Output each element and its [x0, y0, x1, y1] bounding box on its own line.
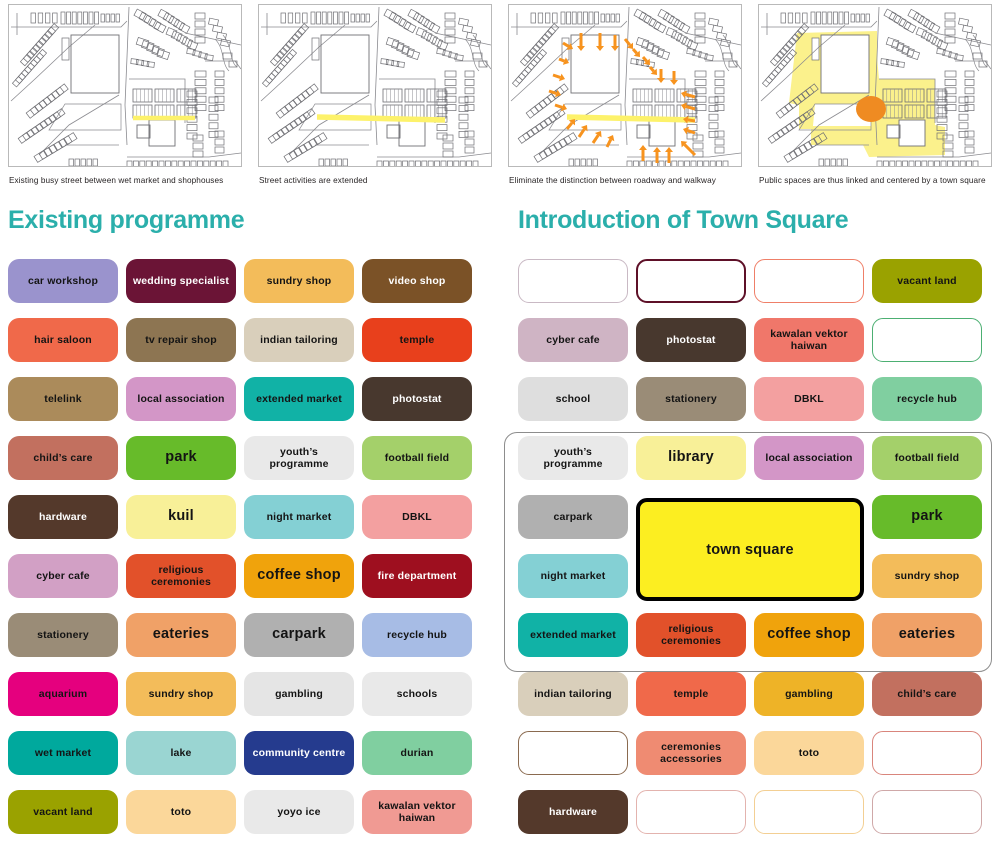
chip-coffee-shop[interactable]: coffee shop — [754, 613, 864, 657]
chip-empty[interactable] — [518, 259, 628, 303]
chip-fire-department[interactable]: fire department — [362, 554, 472, 598]
chip-temple[interactable]: temple — [362, 318, 472, 362]
chip-childs-care[interactable]: child’s care — [872, 672, 982, 716]
chip-dbkl[interactable]: DBKL — [754, 377, 864, 421]
chip-empty[interactable] — [872, 318, 982, 362]
chip-video-shop[interactable]: video shop — [362, 259, 472, 303]
chip-library[interactable]: library — [636, 436, 746, 480]
chip-sundry-shop[interactable]: sundry shop — [244, 259, 354, 303]
chip-gambling[interactable]: gambling — [754, 672, 864, 716]
chip-carpark[interactable]: carpark — [244, 613, 354, 657]
chip-tv-repair-shop[interactable]: tv repair shop — [126, 318, 236, 362]
chip-empty[interactable] — [636, 790, 746, 834]
chip-football-field[interactable]: football field — [362, 436, 472, 480]
map-extended-activities-frame — [258, 4, 492, 167]
map-eliminate-distinction: Eliminate the distinction between roadwa… — [500, 0, 750, 196]
chip-town-square[interactable]: town square — [636, 498, 864, 601]
chip-park[interactable]: park — [872, 495, 982, 539]
introduction-town-square-heading: Introduction of Town Square — [518, 206, 848, 235]
chip-wedding-specialist[interactable]: wedding specialist — [126, 259, 236, 303]
chip-empty[interactable] — [872, 731, 982, 775]
chip-local-association[interactable]: local association — [754, 436, 864, 480]
chip-stationery[interactable]: stationery — [636, 377, 746, 421]
chip-community-centre[interactable]: community centre — [244, 731, 354, 775]
chip-empty[interactable] — [754, 259, 864, 303]
chip-football-field[interactable]: football field — [872, 436, 982, 480]
chip-gambling[interactable]: gambling — [244, 672, 354, 716]
chip-sundry-shop[interactable]: sundry shop — [126, 672, 236, 716]
chip-empty[interactable] — [754, 790, 864, 834]
chip-wet-market[interactable]: wet market — [8, 731, 118, 775]
chip-indian-tailoring[interactable]: indian tailoring — [518, 672, 628, 716]
chip-eateries[interactable]: eateries — [126, 613, 236, 657]
chip-hardware[interactable]: hardware — [8, 495, 118, 539]
chip-childs-care[interactable]: child’s care — [8, 436, 118, 480]
chip-local-association[interactable]: local association — [126, 377, 236, 421]
chip-vacant-land[interactable]: vacant land — [872, 259, 982, 303]
map-existing-street-caption: Existing busy street between wet market … — [9, 176, 249, 185]
chip-durian[interactable]: durian — [362, 731, 472, 775]
chip-vacant-land[interactable]: vacant land — [8, 790, 118, 834]
chip-school[interactable]: school — [518, 377, 628, 421]
chip-ceremonies-accessories[interactable]: ceremonies accessories — [636, 731, 746, 775]
chip-dbkl[interactable]: DBKL — [362, 495, 472, 539]
chip-religious-ceremonies[interactable]: religious ceremonies — [636, 613, 746, 657]
chip-temple[interactable]: temple — [636, 672, 746, 716]
chip-eateries[interactable]: eateries — [872, 613, 982, 657]
chip-schools[interactable]: schools — [362, 672, 472, 716]
chip-photostat[interactable]: photostat — [362, 377, 472, 421]
chip-cyber-cafe[interactable]: cyber cafe — [518, 318, 628, 362]
map-town-square-linked-frame — [758, 4, 992, 167]
chip-yoyo-ice[interactable]: yoyo ice — [244, 790, 354, 834]
chip-toto[interactable]: toto — [754, 731, 864, 775]
existing-programme-heading: Existing programme — [8, 206, 244, 235]
chip-coffee-shop[interactable]: coffee shop — [244, 554, 354, 598]
chip-carpark[interactable]: carpark — [518, 495, 628, 539]
chip-night-market[interactable]: night market — [518, 554, 628, 598]
chip-kawalan-vektor-haiwan[interactable]: kawalan vektor haiwan — [362, 790, 472, 834]
map-eliminate-distinction-caption: Eliminate the distinction between roadwa… — [509, 176, 749, 185]
chip-aquarium[interactable]: aquarium — [8, 672, 118, 716]
chip-extended-market[interactable]: extended market — [244, 377, 354, 421]
map-eliminate-distinction-frame — [508, 4, 742, 167]
chip-night-market[interactable]: night market — [244, 495, 354, 539]
chip-sundry-shop[interactable]: sundry shop — [872, 554, 982, 598]
chip-kawalan-vektor-haiwan[interactable]: kawalan vektor haiwan — [754, 318, 864, 362]
chip-stationery[interactable]: stationery — [8, 613, 118, 657]
chip-indian-tailoring[interactable]: indian tailoring — [244, 318, 354, 362]
chip-empty[interactable] — [636, 259, 746, 303]
chip-empty[interactable] — [518, 731, 628, 775]
existing-programme-grid: car workshopwedding specialistsundry sho… — [8, 259, 472, 834]
chip-hair-saloon[interactable]: hair saloon — [8, 318, 118, 362]
chip-photostat[interactable]: photostat — [636, 318, 746, 362]
map-extended-activities: Street activities are extended — [250, 0, 500, 196]
chip-extended-market[interactable]: extended market — [518, 613, 628, 657]
map-existing-street-frame — [8, 4, 242, 167]
map-strip: Existing busy street between wet market … — [0, 0, 1000, 196]
chip-recycle-hub[interactable]: recycle hub — [872, 377, 982, 421]
chip-car-workshop[interactable]: car workshop — [8, 259, 118, 303]
chip-lake[interactable]: lake — [126, 731, 236, 775]
chip-recycle-hub[interactable]: recycle hub — [362, 613, 472, 657]
chip-park[interactable]: park — [126, 436, 236, 480]
chip-telelink[interactable]: telelink — [8, 377, 118, 421]
map-existing-street: Existing busy street between wet market … — [0, 0, 250, 196]
map-town-square-linked: Public spaces are thus linked and center… — [750, 0, 1000, 196]
chip-empty[interactable] — [872, 790, 982, 834]
chip-religious-ceremonies[interactable]: religious ceremonies — [126, 554, 236, 598]
map-town-square-linked-caption: Public spaces are thus linked and center… — [759, 176, 999, 185]
chip-hardware[interactable]: hardware — [518, 790, 628, 834]
chip-cyber-cafe[interactable]: cyber cafe — [8, 554, 118, 598]
chip-youths-programme[interactable]: youth’s programme — [518, 436, 628, 480]
chip-kuil[interactable]: kuil — [126, 495, 236, 539]
map-extended-activities-caption: Street activities are extended — [259, 176, 499, 185]
chip-youths-programme[interactable]: youth’s programme — [244, 436, 354, 480]
chip-toto[interactable]: toto — [126, 790, 236, 834]
